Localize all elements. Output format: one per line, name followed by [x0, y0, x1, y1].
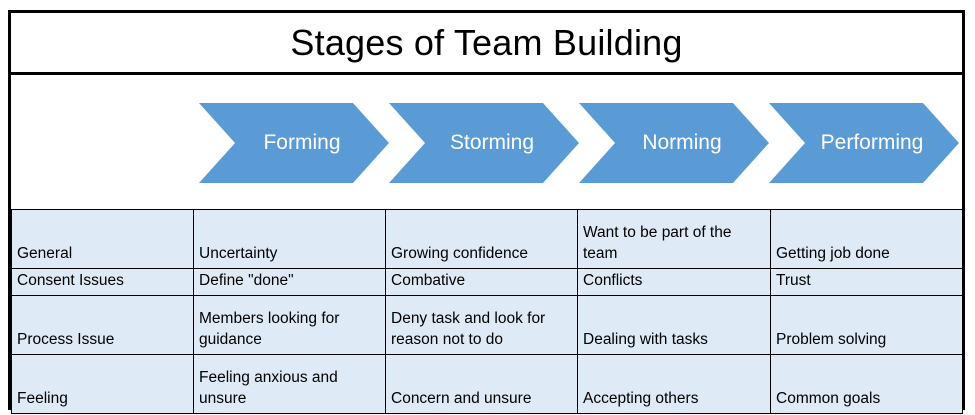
cell-general-storming: Growing confidence	[386, 210, 578, 269]
stages-attributes-table: General Uncertainty Growing confidence W…	[11, 209, 963, 414]
stage-chevron-storming-label: Storming	[434, 131, 534, 155]
cell-feeling-forming: Feeling anxious and unsure	[194, 354, 386, 413]
table-row: Consent Issues Define "done" Combative C…	[12, 269, 963, 296]
cell-feeling-norming: Accepting others	[578, 354, 771, 413]
cell-consent-norming: Conflicts	[578, 269, 771, 296]
stage-chevron-forming[interactable]: Forming	[199, 103, 389, 183]
cell-feeling-storming: Concern and unsure	[386, 354, 578, 413]
stage-chevron-norming[interactable]: Norming	[579, 103, 769, 183]
cell-feeling-label: Feeling	[12, 354, 194, 413]
stage-chevron-storming[interactable]: Storming	[389, 103, 579, 183]
stage-chevron-forming-label: Forming	[247, 131, 340, 155]
cell-process-storming: Deny task and look for reason not to do	[386, 295, 578, 354]
cell-general-forming: Uncertainty	[194, 210, 386, 269]
content-frame: Stages of Team Building Forming Storming…	[8, 10, 965, 410]
title-band: Stages of Team Building	[11, 13, 962, 75]
page-title: Stages of Team Building	[290, 25, 682, 61]
table-row: Process Issue Members looking for guidan…	[12, 295, 963, 354]
cell-process-label: Process Issue	[12, 295, 194, 354]
cell-consent-performing: Trust	[771, 269, 963, 296]
slide-canvas: Stages of Team Building Forming Storming…	[0, 0, 975, 415]
cell-process-performing: Problem solving	[771, 295, 963, 354]
stage-chevron-norming-label: Norming	[626, 131, 721, 155]
cell-general-performing: Getting job done	[771, 210, 963, 269]
cell-general-label: General	[12, 210, 194, 269]
stage-chevron-row: Forming Storming Norming Performing	[11, 75, 962, 209]
cell-consent-forming: Define "done"	[194, 269, 386, 296]
stage-chevron-performing-label: Performing	[805, 131, 924, 155]
table-row: General Uncertainty Growing confidence W…	[12, 210, 963, 269]
cell-general-norming: Want to be part of the team	[578, 210, 771, 269]
cell-process-norming: Dealing with tasks	[578, 295, 771, 354]
cell-consent-label: Consent Issues	[12, 269, 194, 296]
cell-feeling-performing: Common goals	[771, 354, 963, 413]
table-row: Feeling Feeling anxious and unsure Conce…	[12, 354, 963, 413]
stage-chevron-performing[interactable]: Performing	[769, 103, 959, 183]
cell-consent-storming: Combative	[386, 269, 578, 296]
cell-process-forming: Members looking for guidance	[194, 295, 386, 354]
